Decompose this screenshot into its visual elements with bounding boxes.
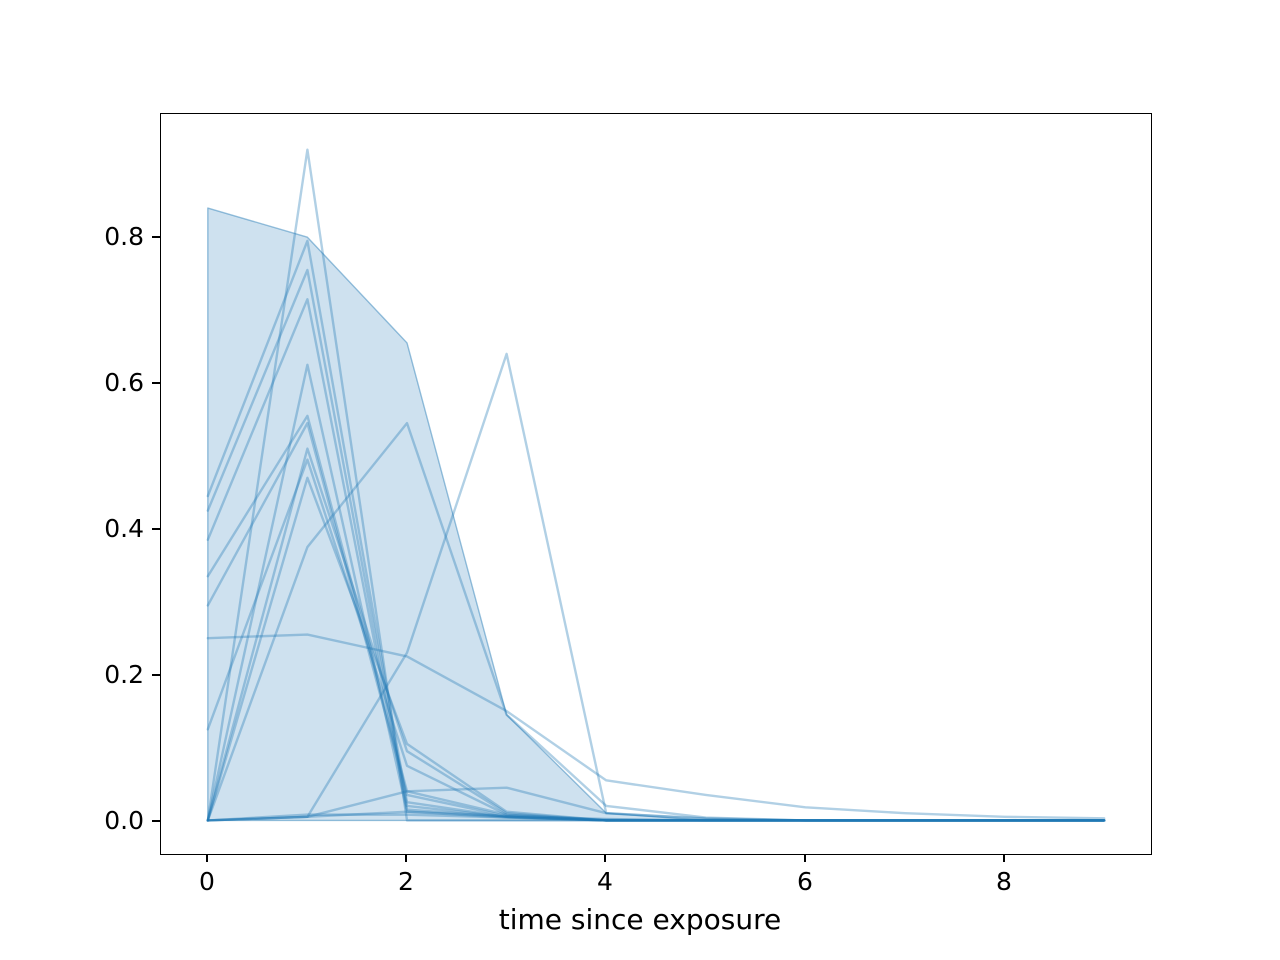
ytick-mark-2: [152, 528, 160, 530]
ytick-label-1: 0.2: [40, 662, 144, 687]
ytick-label-2: 0.4: [40, 516, 144, 541]
ytick-label-3: 0.6: [40, 370, 144, 395]
xtick-label-3: 6: [755, 869, 855, 894]
xtick-mark-2: [604, 854, 606, 862]
ytick-mark-1: [152, 674, 160, 676]
ytick-mark-3: [152, 382, 160, 384]
xtick-mark-0: [206, 854, 208, 862]
x-axis-label: time since exposure: [0, 906, 1280, 934]
ytick-mark-4: [152, 236, 160, 238]
xtick-label-1: 2: [356, 869, 456, 894]
ytick-mark-0: [152, 820, 160, 822]
confidence-band-group: [208, 208, 1104, 820]
xtick-label-0: 0: [157, 869, 257, 894]
plot-area: [160, 113, 1152, 855]
confidence-band: [208, 208, 1104, 820]
ytick-label-4: 0.8: [40, 224, 144, 249]
xtick-label-2: 4: [555, 869, 655, 894]
xtick-mark-3: [804, 854, 806, 862]
xtick-label-4: 8: [954, 869, 1054, 894]
figure-canvas: 0.0 0.2 0.4 0.6 0.8 0 2 4 6 8 time since…: [0, 0, 1280, 960]
xtick-mark-4: [1003, 854, 1005, 862]
xtick-mark-1: [405, 854, 407, 862]
ytick-label-0: 0.0: [40, 808, 144, 833]
plot-svg: [161, 114, 1151, 854]
